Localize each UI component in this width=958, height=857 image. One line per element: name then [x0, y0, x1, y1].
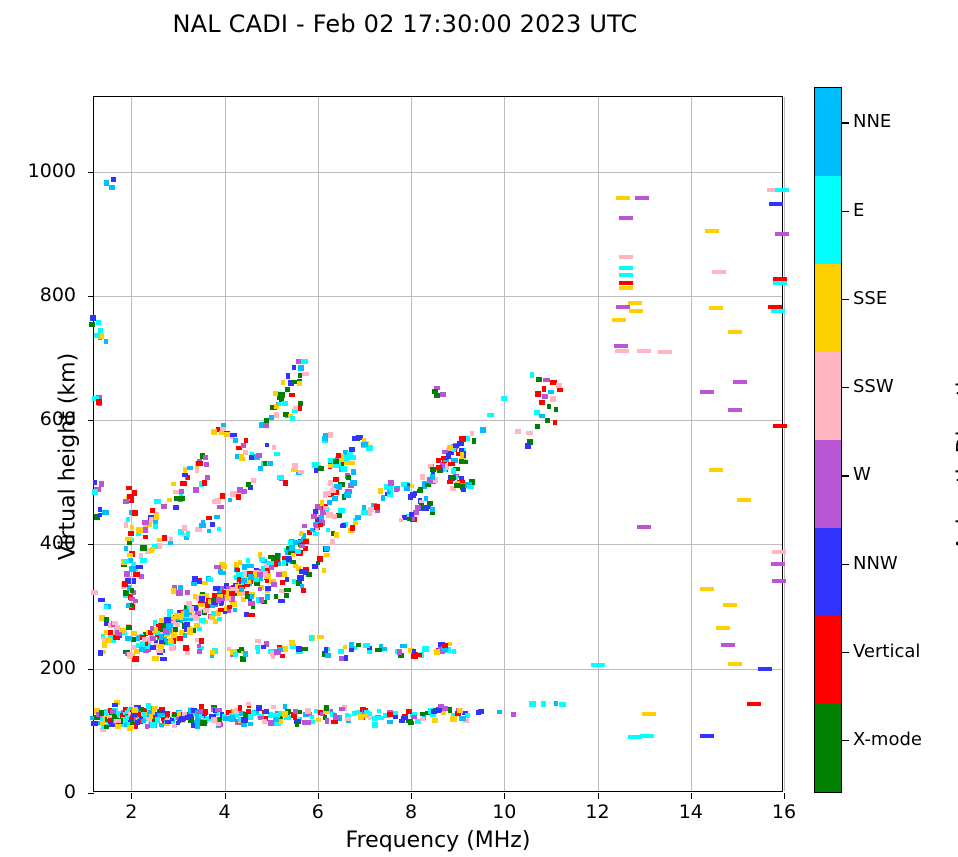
scatter-point	[128, 531, 134, 536]
scatter-point	[314, 709, 318, 713]
scatter-point	[614, 344, 628, 348]
scatter-point	[246, 558, 250, 563]
scatter-point	[125, 636, 132, 641]
scatter-point	[98, 328, 103, 333]
scatter-point	[261, 645, 266, 649]
scatter-point	[501, 396, 507, 401]
page-title: NAL CADI - Feb 02 17:30:00 2023 UTC	[0, 10, 810, 38]
scatter-point	[361, 442, 368, 447]
colorbar-tick	[842, 652, 849, 653]
scatter-point	[338, 508, 345, 513]
x-axis-tick	[598, 793, 599, 799]
scatter-point	[363, 643, 370, 648]
scatter-point	[344, 492, 351, 498]
scatter-point	[179, 496, 185, 501]
scatter-point	[408, 721, 414, 725]
scatter-point	[712, 270, 726, 274]
scatter-point	[413, 491, 417, 496]
scatter-point	[199, 618, 206, 623]
scatter-point	[317, 635, 324, 639]
scatter-point	[296, 646, 302, 652]
scatter-point	[251, 478, 256, 483]
scatter-point	[150, 722, 156, 728]
colorbar-label-nnw: NNW	[853, 555, 898, 573]
scatter-point	[239, 457, 245, 461]
scatter-point	[125, 537, 132, 541]
scatter-point	[737, 498, 751, 502]
scatter-point	[196, 461, 203, 466]
colorbar-segment-nnw[interactable]	[815, 528, 841, 616]
scatter-point	[132, 510, 138, 516]
scatter-point	[409, 512, 414, 517]
scatter-point	[265, 594, 270, 600]
scatter-point	[241, 443, 246, 448]
scatter-point	[362, 505, 366, 510]
scatter-point	[96, 399, 102, 405]
scatter-point	[448, 707, 452, 713]
scatter-point	[341, 466, 347, 472]
scatter-point	[550, 396, 556, 402]
scatter-point	[616, 196, 630, 200]
scatter-point	[292, 365, 296, 370]
scatter-point	[127, 553, 133, 557]
scatter-point	[126, 517, 130, 522]
colorbar-tick	[842, 475, 849, 476]
colorbar-segment-ssw[interactable]	[815, 352, 841, 440]
colorbar-segment-e[interactable]	[815, 176, 841, 264]
colorbar-label-nne: NNE	[853, 113, 891, 131]
scatter-point	[536, 377, 542, 382]
scatter-point	[377, 709, 381, 713]
scatter-point	[302, 372, 309, 376]
scatter-point	[389, 486, 393, 491]
scatter-point	[773, 281, 787, 285]
scatter-point	[393, 715, 398, 719]
scatter-point	[212, 499, 218, 504]
scatter-point	[99, 481, 104, 487]
scatter-point	[115, 724, 121, 729]
scatter-point	[327, 500, 332, 505]
scatter-point	[399, 719, 405, 723]
x-axis-tick	[318, 793, 319, 799]
scatter-point	[241, 717, 248, 723]
scatter-point	[460, 452, 464, 458]
scatter-point	[130, 525, 134, 530]
scatter-point	[285, 387, 290, 392]
scatter-point	[110, 709, 116, 714]
scatter-point	[430, 467, 436, 472]
scatter-point	[619, 286, 633, 290]
scatter-point	[236, 572, 243, 577]
scatter-point	[167, 498, 172, 502]
scatter-point	[448, 642, 452, 646]
scatter-point	[156, 649, 163, 653]
scatter-point	[291, 553, 295, 557]
scatter-point	[434, 649, 440, 655]
scatter-point	[274, 594, 278, 599]
scatter-point	[142, 520, 149, 525]
scatter-point	[136, 565, 143, 569]
scatter-point	[218, 608, 223, 612]
scatter-point	[280, 580, 285, 585]
scatter-point	[322, 436, 328, 441]
scatter-point	[259, 597, 264, 603]
scatter-point	[337, 484, 342, 490]
scatter-point	[127, 652, 133, 658]
scatter-point	[459, 436, 466, 442]
scatter-point	[98, 598, 105, 602]
scatter-point	[217, 527, 221, 531]
scatter-point	[447, 480, 453, 484]
scatter-point	[301, 588, 306, 593]
scatter-point	[450, 716, 457, 722]
scatter-point	[349, 642, 354, 648]
scatter-point	[263, 423, 269, 428]
scatter-point	[295, 722, 299, 727]
scatter-point	[345, 717, 351, 721]
scatter-point	[135, 720, 140, 725]
scatter-point	[420, 717, 425, 721]
scatter-point	[635, 196, 649, 200]
y-axis-tick	[88, 669, 94, 670]
scatter-point	[150, 645, 156, 650]
scatter-point	[658, 350, 672, 354]
scatter-point	[430, 507, 435, 512]
scatter-point	[418, 487, 423, 493]
scatter-point	[324, 705, 329, 711]
scatter-point	[305, 708, 311, 714]
x-axis-label: Frequency (MHz)	[93, 828, 783, 853]
scatter-point	[511, 712, 516, 717]
scatter-point	[299, 531, 303, 536]
scatter-point	[298, 470, 304, 474]
colorbar-segment-nne[interactable]	[815, 88, 841, 176]
colorbar-tick	[842, 299, 849, 300]
scatter-point	[169, 645, 175, 651]
scatter-point	[545, 418, 550, 423]
scatter-point	[497, 710, 502, 714]
scatter-point	[220, 493, 225, 499]
scatter-point	[130, 588, 134, 593]
scatter-point	[153, 524, 158, 529]
scatter-point	[612, 318, 626, 322]
scatter-point	[615, 349, 629, 353]
scatter-point	[216, 722, 221, 726]
scatter-point	[274, 412, 279, 418]
scatter-point	[309, 635, 314, 641]
scatter-point	[189, 606, 194, 612]
scatter-point	[158, 644, 164, 649]
colorbar-title: Azimuth Direction	[954, 253, 958, 653]
scatter-point	[217, 505, 224, 509]
scatter-point	[186, 531, 190, 537]
scatter-point	[535, 424, 540, 429]
scatter-point	[173, 627, 178, 632]
scatter-point	[123, 499, 129, 504]
scatter-point	[728, 330, 742, 334]
scatter-point	[526, 431, 533, 435]
colorbar-tick	[842, 122, 849, 123]
y-axis-tick	[88, 544, 94, 545]
scatter-point	[539, 414, 545, 418]
scatter-point	[142, 637, 147, 642]
scatter-point	[282, 560, 286, 566]
scatter-point	[282, 401, 288, 406]
scatter-point	[160, 657, 167, 661]
colorbar-segment-vertical[interactable]	[815, 616, 841, 704]
scatter-point	[126, 486, 132, 490]
scatter-point	[301, 359, 308, 364]
scatter-point	[271, 705, 276, 709]
scatter-point	[416, 653, 422, 657]
colorbar-segment-x-mode[interactable]	[815, 704, 841, 792]
scatter-point	[227, 605, 232, 609]
colorbar-segment-w[interactable]	[815, 440, 841, 528]
scatter-point	[318, 466, 324, 471]
scatter-point	[192, 576, 198, 582]
scatter-point	[728, 408, 742, 412]
scatter-point	[400, 644, 407, 648]
scatter-point	[132, 631, 137, 636]
scatter-point	[333, 713, 337, 719]
scatter-point	[289, 640, 295, 646]
scatter-point	[700, 734, 714, 738]
scatter-point	[242, 564, 247, 570]
scatter-point	[241, 578, 247, 583]
scatter-point	[323, 492, 327, 498]
scatter-point	[152, 656, 159, 661]
scatter-point	[125, 716, 129, 720]
scatter-point	[317, 556, 323, 562]
scatter-point	[295, 549, 301, 554]
scatter-point	[453, 444, 459, 448]
scatter-point	[278, 719, 283, 724]
scatter-point	[197, 627, 202, 631]
scatter-point	[440, 392, 446, 397]
scatter-point	[313, 509, 318, 514]
scatter-point	[200, 720, 207, 726]
scatter-point	[771, 562, 785, 566]
scatter-point	[700, 587, 714, 591]
scatter-point	[278, 392, 285, 398]
scatter-point	[311, 514, 317, 519]
scatter-point	[709, 468, 723, 472]
scatter-point	[368, 511, 372, 516]
scatter-point	[557, 388, 563, 392]
scatter-point	[140, 545, 147, 551]
scatter-point	[195, 527, 202, 532]
scatter-point	[90, 315, 96, 321]
scatter-point	[344, 655, 348, 661]
scatter-point	[272, 445, 276, 450]
scatter-point	[591, 663, 605, 667]
scatter-point	[296, 359, 301, 364]
scatter-point	[213, 586, 220, 591]
scatter-point	[302, 647, 308, 651]
scatter-point	[211, 611, 216, 616]
scatter-point	[529, 701, 536, 707]
scatter-point	[721, 643, 735, 647]
scatter-point	[298, 365, 304, 371]
scatter-point	[430, 474, 435, 480]
scatter-point	[112, 703, 118, 707]
scatter-point	[143, 535, 148, 539]
scatter-point	[323, 506, 328, 510]
scatter-point	[238, 705, 242, 711]
scatter-point	[214, 565, 221, 569]
scatter-point	[320, 500, 324, 506]
scatter-point	[248, 613, 255, 617]
scatter-point	[299, 544, 305, 548]
scatter-point	[161, 709, 165, 713]
scatter-point	[350, 480, 357, 486]
scatter-point	[541, 701, 546, 707]
scatter-point	[164, 617, 171, 623]
scatter-point	[351, 469, 356, 475]
scatter-point	[276, 572, 282, 577]
scatter-point	[771, 309, 785, 313]
scatter-point	[324, 546, 330, 551]
scatter-point	[180, 481, 187, 486]
scatter-point	[258, 466, 263, 471]
scatter-point	[104, 180, 109, 186]
scatter-point	[747, 702, 761, 706]
scatter-point	[283, 480, 288, 486]
x-axis-tick-label: 2	[101, 801, 161, 823]
scatter-point	[195, 611, 201, 615]
scatter-point	[332, 496, 338, 501]
scatter-point	[404, 486, 410, 491]
scatter-point	[136, 527, 143, 533]
x-axis-tick-label: 10	[474, 801, 534, 823]
scatter-point	[297, 381, 302, 386]
scatter-point	[243, 651, 248, 657]
scatter-point	[442, 643, 448, 648]
scatter-point	[202, 581, 208, 585]
scatter-point	[123, 590, 129, 596]
scatter-point	[406, 709, 412, 714]
scatter-point	[336, 453, 341, 458]
scatter-point	[716, 626, 730, 630]
x-axis-tick-label: 16	[754, 801, 814, 823]
scatter-point	[350, 525, 355, 531]
scatter-point	[530, 372, 534, 378]
scatter-point	[278, 599, 285, 603]
scatter-point	[262, 719, 267, 724]
scatter-point	[203, 608, 209, 613]
gridline-vertical	[784, 97, 785, 791]
scatter-point	[387, 720, 393, 724]
scatter-point	[183, 467, 187, 473]
scatter-point	[310, 715, 314, 719]
scatter-point	[187, 466, 193, 470]
x-axis-tick-label: 14	[661, 801, 721, 823]
scatter-point	[173, 490, 179, 494]
scatter-point	[129, 597, 135, 601]
scatter-point	[89, 322, 95, 327]
scatter-point	[292, 463, 298, 469]
scatter-point	[104, 617, 109, 622]
colorbar-label-sse: SSE	[853, 290, 887, 308]
scatter-point	[268, 555, 273, 559]
scatter-point	[619, 266, 633, 270]
scatter-point	[159, 723, 164, 727]
scatter-points-layer	[94, 97, 782, 791]
scatter-point	[312, 564, 318, 569]
scatter-point	[254, 581, 260, 586]
scatter-point	[432, 718, 438, 723]
scatter-point	[241, 489, 247, 494]
scatter-point	[265, 443, 269, 447]
scatter-point	[637, 349, 651, 353]
y-axis-tick	[88, 793, 94, 794]
x-axis-tick-label: 12	[568, 801, 628, 823]
scatter-point	[339, 707, 345, 711]
scatter-point	[772, 579, 786, 583]
x-axis-tick	[411, 793, 412, 799]
scatter-point	[292, 579, 296, 584]
scatter-point	[210, 650, 215, 655]
scatter-point	[197, 709, 203, 714]
scatter-point	[290, 416, 295, 421]
scatter-point	[364, 710, 370, 714]
scatter-point	[206, 516, 212, 520]
scatter-point	[102, 642, 107, 648]
x-axis-tick-label: 8	[381, 801, 441, 823]
scatter-point	[542, 394, 548, 399]
scatter-point	[487, 413, 494, 417]
scatter-point	[91, 721, 98, 726]
scatter-point	[397, 649, 402, 655]
scatter-point	[111, 177, 116, 182]
scatter-point	[233, 608, 237, 612]
scatter-point	[132, 707, 138, 713]
scatter-point	[256, 453, 262, 458]
scatter-point	[318, 523, 323, 527]
scatter-point	[187, 631, 193, 635]
colorbar-label-x-mode: X-mode	[853, 731, 922, 749]
scatter-point	[325, 653, 331, 658]
scatter-point	[259, 557, 265, 562]
scatter-point	[133, 572, 140, 577]
scatter-point	[205, 593, 209, 598]
scatter-point	[152, 706, 158, 710]
scatter-point	[330, 539, 335, 545]
scatter-point	[233, 652, 238, 657]
scatter-point	[251, 711, 256, 716]
scatter-point	[123, 559, 129, 564]
scatter-point	[298, 710, 302, 714]
scatter-point	[105, 638, 112, 642]
colorbar-tick	[842, 387, 849, 388]
scatter-point	[436, 465, 442, 470]
colorbar[interactable]	[814, 87, 842, 793]
scatter-point	[141, 719, 146, 723]
scatter-point	[154, 514, 159, 520]
scatter-point	[104, 605, 108, 609]
scatter-point	[547, 404, 551, 409]
colorbar-segment-sse[interactable]	[815, 264, 841, 352]
scatter-point	[268, 461, 273, 466]
scatter-point	[186, 601, 192, 606]
scatter-point	[325, 718, 329, 724]
scatter-point	[249, 455, 254, 460]
scatter-point	[629, 309, 643, 313]
scatter-point	[193, 487, 199, 493]
scatter-point	[559, 702, 566, 707]
scatter-point	[773, 424, 787, 428]
scatter-point	[328, 432, 333, 438]
